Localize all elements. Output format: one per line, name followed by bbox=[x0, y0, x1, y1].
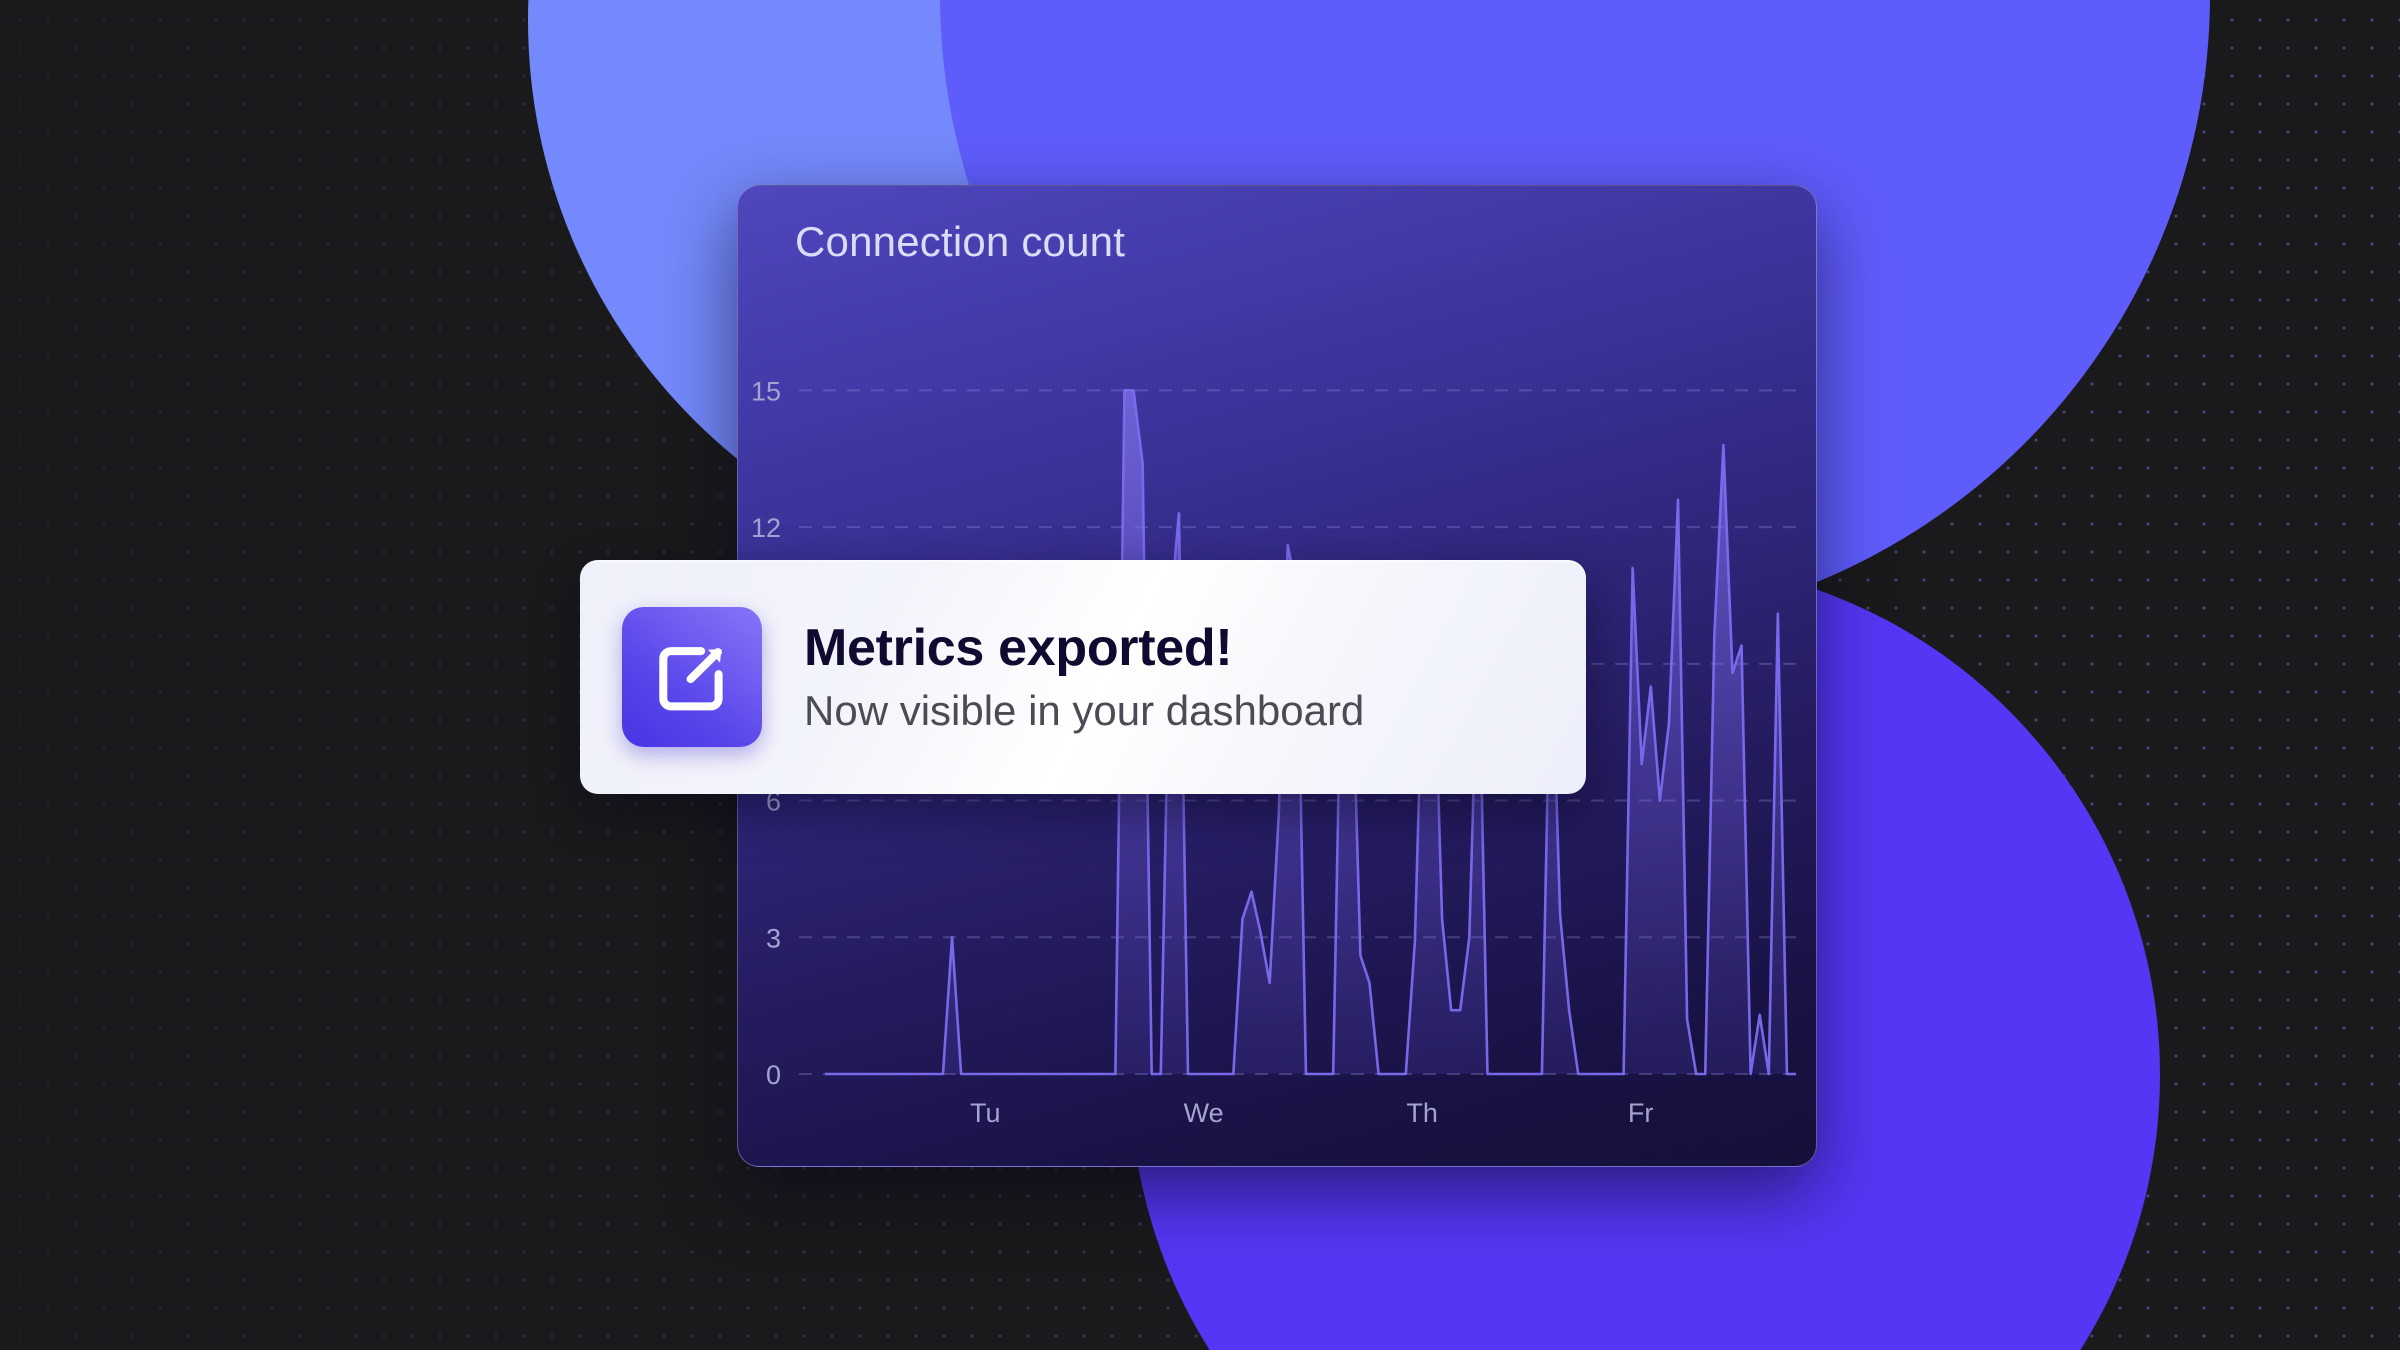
toast-notification[interactable]: Metrics exported! Now visible in your da… bbox=[580, 560, 1586, 794]
x-axis-tick-label: Fr bbox=[1628, 1098, 1653, 1128]
external-link-glyph bbox=[650, 635, 734, 719]
x-axis-tick-label: Tu bbox=[970, 1098, 1001, 1128]
screenshot-canvas: Connection count 15129630 TuWeThFr bbox=[0, 0, 2400, 1350]
x-axis-tick-label: We bbox=[1184, 1098, 1224, 1128]
chart-x-axis-labels: TuWeThFr bbox=[970, 1098, 1653, 1128]
x-axis-tick-label: Th bbox=[1406, 1098, 1438, 1128]
external-link-icon bbox=[622, 607, 762, 747]
card-title: Connection count bbox=[795, 218, 1125, 266]
toast-subtitle: Now visible in your dashboard bbox=[804, 688, 1364, 733]
y-axis-tick-label: 0 bbox=[766, 1060, 781, 1090]
y-axis-tick-label: 12 bbox=[751, 513, 781, 543]
y-axis-tick-label: 3 bbox=[766, 923, 781, 953]
y-axis-tick-label: 15 bbox=[751, 376, 781, 406]
toast-title: Metrics exported! bbox=[804, 620, 1364, 676]
toast-text-block: Metrics exported! Now visible in your da… bbox=[804, 620, 1364, 734]
